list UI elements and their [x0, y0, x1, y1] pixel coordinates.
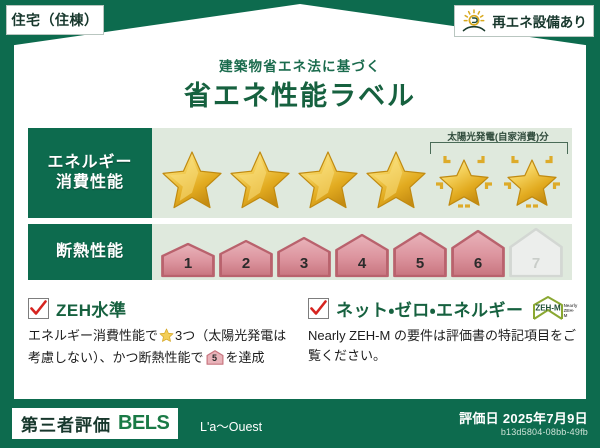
energy-label-line1: エネルギー — [47, 153, 132, 173]
star-6-pv — [499, 144, 565, 214]
page-title: 省エネ性能ラベル — [0, 74, 600, 113]
zeh-body-part4: を達成 — [226, 350, 265, 365]
insulation-badge-icon: 5 — [206, 350, 224, 365]
net-zero-energy-title: ネット・ゼロ・エネルギー — [336, 296, 524, 321]
star-rating — [158, 138, 566, 214]
star-4 — [363, 144, 429, 214]
insulation-level-4: 4 — [334, 233, 390, 278]
zeh-m-logo-icon: ZEH-M Nearly ZEH-M — [531, 295, 575, 321]
insulation-level-7: 7 — [508, 227, 564, 278]
insulation-level-6: 6 — [450, 229, 506, 278]
insulation-level-1: 1 — [160, 242, 216, 278]
insulation-badge-number: 5 — [206, 352, 224, 366]
insulation-label: 断熱性能 — [56, 242, 124, 262]
insulation-level-5: 5 — [392, 231, 448, 278]
renewable-equipment-tag: 再エネ設備あり — [454, 5, 594, 37]
star-5-pv — [431, 144, 497, 214]
footer-bar: 第三者評価 BELS L'a〜Ouest 評価日 2025年7月9日 b13d5… — [0, 399, 600, 448]
checkmark-icon — [308, 298, 329, 319]
star-2 — [227, 144, 293, 214]
net-zero-energy-block: ネット・ゼロ・エネルギー ZEH-M Nearly ZEH-M Nearly Z… — [308, 296, 576, 366]
star-1 — [159, 144, 225, 214]
zeh-standard-header: ZEH水準 — [28, 296, 296, 320]
label-subtitle: 建築物省エネ法に基づく — [0, 55, 600, 75]
building-name: L'a〜Ouest — [200, 416, 262, 435]
evaluation-id: b13d5804-08bb-49fb — [501, 427, 588, 437]
net-zero-energy-body: Nearly ZEH-M の要件は評価書の特記項目をご覧ください。 — [308, 326, 576, 366]
checkmark-icon — [28, 298, 49, 319]
energy-performance-row: エネルギー 消費性能 太陽光発電(自家消費)分 — [28, 128, 572, 218]
building-type-label: 住宅（住棟） — [12, 10, 99, 30]
star-icon — [159, 330, 174, 345]
insulation-level-scale: 1 2 3 4 — [160, 226, 564, 278]
energy-performance-label: 住宅（住棟） 再エネ設備あり 建築物省エネ法に基づく 省エ — [0, 0, 600, 448]
zeh-standard-body: エネルギー消費性能で3つ（太陽光発電は考慮しない）、かつ断熱性能で5を達成 — [28, 326, 296, 368]
zeh-m-logo-sub-line2: ZEH-M — [564, 308, 578, 318]
evaluation-date: 評価日 2025年7月9日 — [459, 408, 588, 427]
third-party-evaluation-label: 第三者評価 — [21, 411, 111, 436]
energy-label-line2: 消費性能 — [56, 173, 124, 193]
insulation-level-3: 3 — [276, 236, 332, 278]
svg-text:ZEH-M: ZEH-M — [535, 304, 561, 313]
evaluation-date-label: 評価日 — [459, 411, 499, 426]
energy-performance-label-cell: エネルギー 消費性能 — [28, 128, 152, 218]
bels-logo-text: BELS — [118, 412, 169, 435]
insulation-level-2: 2 — [218, 239, 274, 278]
star-3 — [295, 144, 361, 214]
building-type-tag: 住宅（住棟） — [6, 5, 104, 35]
energy-rating-body: 太陽光発電(自家消費)分 — [152, 128, 572, 218]
zeh-body-part1: エネルギー消費性能で — [28, 328, 158, 343]
insulation-rating-body: 1 2 3 4 — [152, 224, 572, 280]
bels-third-party-tag: 第三者評価 BELS — [12, 408, 178, 439]
net-zero-energy-header: ネット・ゼロ・エネルギー ZEH-M Nearly ZEH-M — [308, 296, 576, 320]
zeh-standard-title: ZEH水準 — [56, 296, 127, 321]
renewable-equipment-label: 再エネ設備あり — [492, 11, 587, 31]
insulation-performance-label-cell: 断熱性能 — [28, 224, 152, 280]
zeh-standard-block: ZEH水準 エネルギー消費性能で3つ（太陽光発電は考慮しない）、かつ断熱性能で5… — [28, 296, 296, 368]
evaluation-date-value: 2025年7月9日 — [503, 411, 588, 426]
sun-icon — [461, 9, 487, 33]
insulation-performance-row: 断熱性能 1 — [28, 224, 572, 280]
zeh-body-part2: 3つ（太陽光発電 — [175, 328, 273, 343]
